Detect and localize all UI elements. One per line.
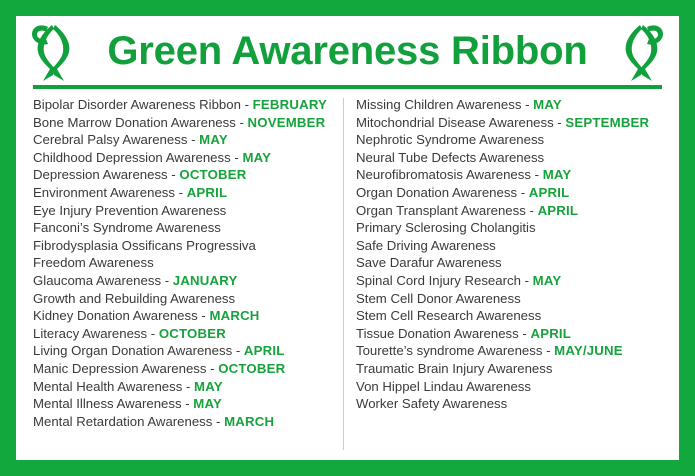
month-label: MAY [193,396,222,411]
separator-dash: - [521,273,533,288]
list-item: Childhood Depression Awareness - MAY [33,149,338,167]
cause-label: Mental Retardation Awareness [33,414,212,429]
month-label: MAY [199,132,228,147]
poster-card: Green Awareness Ribbon Bipolar Disorder … [16,16,679,460]
list-item: Stem Cell Donor Awareness [356,290,666,308]
cause-label: Tissue Donation Awareness [356,326,519,341]
cause-label: Eye Injury Prevention Awareness [33,203,226,218]
cause-label: Cerebral Palsy Awareness [33,132,187,147]
separator-dash: - [542,343,554,358]
separator-dash: - [187,132,199,147]
cause-label: Bipolar Disorder Awareness Ribbon [33,97,241,112]
month-label: JANUARY [173,273,238,288]
cause-label: Neurofibromatosis Awareness [356,167,531,182]
cause-label: Environment Awareness [33,185,175,200]
month-label: FEBRUARY [253,97,327,112]
cause-label: Missing Children Awareness [356,97,521,112]
list-item: Primary Sclerosing Cholangitis [356,219,666,237]
month-label: OCTOBER [159,326,226,341]
month-label: APRIL [538,203,579,218]
cause-label: Fibrodysplasia Ossificans Progressiva [33,238,256,253]
list-item: Cerebral Palsy Awareness - MAY [33,131,338,149]
month-label: MAY [194,379,223,394]
separator-dash: - [554,115,566,130]
list-item: Environment Awareness - APRIL [33,184,338,202]
cause-label: Kidney Donation Awareness [33,308,198,323]
month-label: MAY [242,150,271,165]
cause-label: Glaucoma Awareness [33,273,161,288]
month-label: APRIL [244,343,285,358]
cause-label: Save Darafur Awareness [356,255,502,270]
cause-label: Growth and Rebuilding Awareness [33,291,235,306]
month-label: MAY [533,273,562,288]
list-item: Von Hippel Lindau Awareness [356,378,666,396]
separator-dash: - [517,185,529,200]
month-label: APRIL [530,326,571,341]
list-item: Stem Cell Research Awareness [356,307,666,325]
separator-dash: - [241,97,253,112]
list-item: Neurofibromatosis Awareness - MAY [356,166,666,184]
list-item: Missing Children Awareness - MAY [356,96,666,114]
cause-label: Literacy Awareness [33,326,147,341]
month-label: MAY [543,167,572,182]
separator-dash: - [182,379,194,394]
list-item: Mental Health Awareness - MAY [33,378,338,396]
month-label: APRIL [529,185,570,200]
list-item: Safe Driving Awareness [356,237,666,255]
cause-label: Tourette’s syndrome Awareness [356,343,542,358]
cause-label: Manic Depression Awareness [33,361,206,376]
month-label: MARCH [224,414,274,429]
month-label: MARCH [209,308,259,323]
cause-label: Childhood Depression Awareness [33,150,231,165]
awareness-list: Bipolar Disorder Awareness Ribbon - FEBR… [16,96,679,456]
list-item: Mental Illness Awareness - MAY [33,395,338,413]
month-label: OCTOBER [179,167,246,182]
separator-dash: - [175,185,187,200]
separator-dash: - [531,167,543,182]
separator-dash: - [521,97,533,112]
cause-label: Organ Donation Awareness [356,185,517,200]
list-item: Worker Safety Awareness [356,395,666,413]
list-item: Mitochondrial Disease Awareness - SEPTEM… [356,114,666,132]
poster-header: Green Awareness Ribbon [16,16,679,86]
list-item: Glaucoma Awareness - JANUARY [33,272,338,290]
list-item: Bone Marrow Donation Awareness - NOVEMBE… [33,114,338,132]
separator-dash: - [231,150,243,165]
separator-dash: - [212,414,224,429]
awareness-ribbon-icon [611,19,673,85]
cause-label: Traumatic Brain Injury Awareness [356,361,552,376]
month-label: OCTOBER [218,361,285,376]
cause-label: Primary Sclerosing Cholangitis [356,220,536,235]
month-label: SEPTEMBER [565,115,649,130]
separator-dash: - [161,273,173,288]
list-item: Bipolar Disorder Awareness Ribbon - FEBR… [33,96,338,114]
separator-dash: - [182,396,194,411]
separator-dash: - [236,115,248,130]
cause-label: Von Hippel Lindau Awareness [356,379,531,394]
separator-dash: - [526,203,538,218]
cause-label: Living Organ Donation Awareness [33,343,232,358]
list-item: Kidney Donation Awareness - MARCH [33,307,338,325]
list-item: Fibrodysplasia Ossificans Progressiva [33,237,338,255]
list-item: Living Organ Donation Awareness - APRIL [33,342,338,360]
column-divider [343,98,344,450]
cause-label: Nephrotic Syndrome Awareness [356,132,544,147]
cause-label: Safe Driving Awareness [356,238,496,253]
month-label: NOVEMBER [248,115,326,130]
list-item: Tourette’s syndrome Awareness - MAY/JUNE [356,342,666,360]
list-item: Organ Transplant Awareness - APRIL [356,202,666,220]
cause-label: Neural Tube Defects Awareness [356,150,544,165]
list-item: Tissue Donation Awareness - APRIL [356,325,666,343]
cause-label: Freedom Awareness [33,255,154,270]
cause-label: Worker Safety Awareness [356,396,507,411]
list-item: Mental Retardation Awareness - MARCH [33,413,338,431]
list-item: Fanconi’s Syndrome Awareness [33,219,338,237]
cause-label: Spinal Cord Injury Research [356,273,521,288]
awareness-ribbon-icon [22,19,84,85]
month-label: MAY [533,97,562,112]
cause-label: Fanconi’s Syndrome Awareness [33,220,221,235]
separator-dash: - [232,343,244,358]
list-item: Eye Injury Prevention Awareness [33,202,338,220]
list-item: Neural Tube Defects Awareness [356,149,666,167]
cause-label: Stem Cell Research Awareness [356,308,541,323]
cause-label: Organ Transplant Awareness [356,203,526,218]
month-label: APRIL [187,185,228,200]
list-item: Nephrotic Syndrome Awareness [356,131,666,149]
separator-dash: - [168,167,180,182]
cause-label: Bone Marrow Donation Awareness [33,115,236,130]
title-divider-rule [33,85,662,89]
cause-label: Mental Health Awareness [33,379,182,394]
month-label: MAY/JUNE [554,343,623,358]
list-item: Spinal Cord Injury Research - MAY [356,272,666,290]
cause-label: Stem Cell Donor Awareness [356,291,521,306]
cause-label: Mitochondrial Disease Awareness [356,115,554,130]
awareness-column-right: Missing Children Awareness - MAYMitochon… [356,96,666,413]
list-item: Manic Depression Awareness - OCTOBER [33,360,338,378]
list-item: Literacy Awareness - OCTOBER [33,325,338,343]
list-item: Growth and Rebuilding Awareness [33,290,338,308]
list-item: Traumatic Brain Injury Awareness [356,360,666,378]
separator-dash: - [519,326,531,341]
awareness-column-left: Bipolar Disorder Awareness Ribbon - FEBR… [33,96,338,430]
separator-dash: - [198,308,210,323]
list-item: Depression Awareness - OCTOBER [33,166,338,184]
cause-label: Depression Awareness [33,167,168,182]
separator-dash: - [206,361,218,376]
list-item: Freedom Awareness [33,254,338,272]
list-item: Save Darafur Awareness [356,254,666,272]
separator-dash: - [147,326,159,341]
cause-label: Mental Illness Awareness [33,396,182,411]
page-title: Green Awareness Ribbon [88,16,607,86]
list-item: Organ Donation Awareness - APRIL [356,184,666,202]
